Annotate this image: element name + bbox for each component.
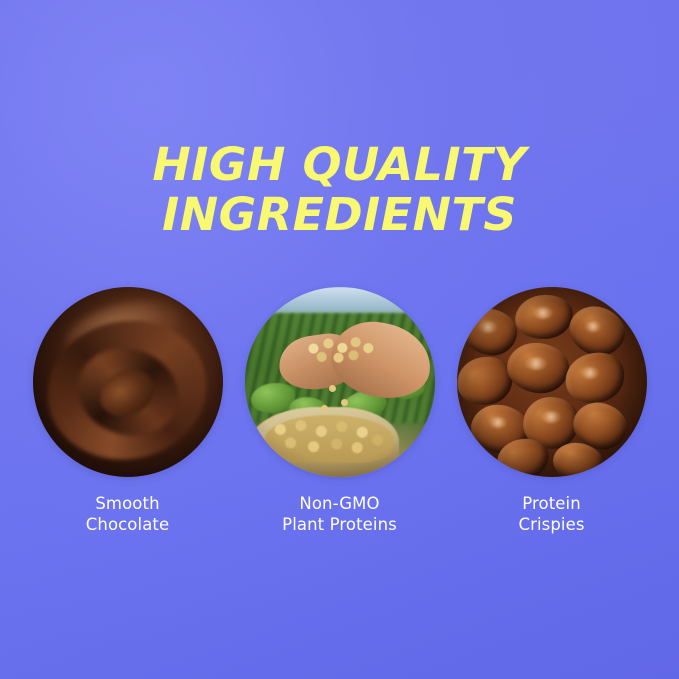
ingredient-caption-chocolate: Smooth Chocolate <box>86 493 169 535</box>
ingredient-item-crispies: Protein Crispies <box>457 287 647 535</box>
ingredient-caption-crispies: Protein Crispies <box>518 493 584 535</box>
caption-line-2: Plant Proteins <box>282 514 397 535</box>
caption-line-1: Protein <box>518 493 584 514</box>
caption-line-1: Smooth <box>86 493 169 514</box>
ingredient-list: Smooth Chocolate <box>0 287 679 535</box>
headline-line-1: HIGH QUALITY <box>0 140 679 190</box>
protein-crispies-photo <box>457 287 647 477</box>
ingredient-item-plant-proteins: Non-GMO Plant Proteins <box>245 287 435 535</box>
non-gmo-plant-proteins-photo <box>245 287 435 477</box>
ingredients-poster: HIGH QUALITY INGREDIENTS Smooth Chocolat… <box>0 0 679 679</box>
smooth-chocolate-photo <box>33 287 223 477</box>
chocolate-vignette <box>33 287 223 477</box>
caption-line-2: Crispies <box>518 514 584 535</box>
caption-line-2: Chocolate <box>86 514 169 535</box>
page-title: HIGH QUALITY INGREDIENTS <box>0 140 679 240</box>
headline-line-2: INGREDIENTS <box>0 190 679 240</box>
soy-vignette <box>245 287 435 477</box>
ingredient-item-chocolate: Smooth Chocolate <box>33 287 223 535</box>
ingredient-caption-plant-proteins: Non-GMO Plant Proteins <box>282 493 397 535</box>
caption-line-1: Non-GMO <box>282 493 397 514</box>
crispies-vignette <box>457 287 647 477</box>
